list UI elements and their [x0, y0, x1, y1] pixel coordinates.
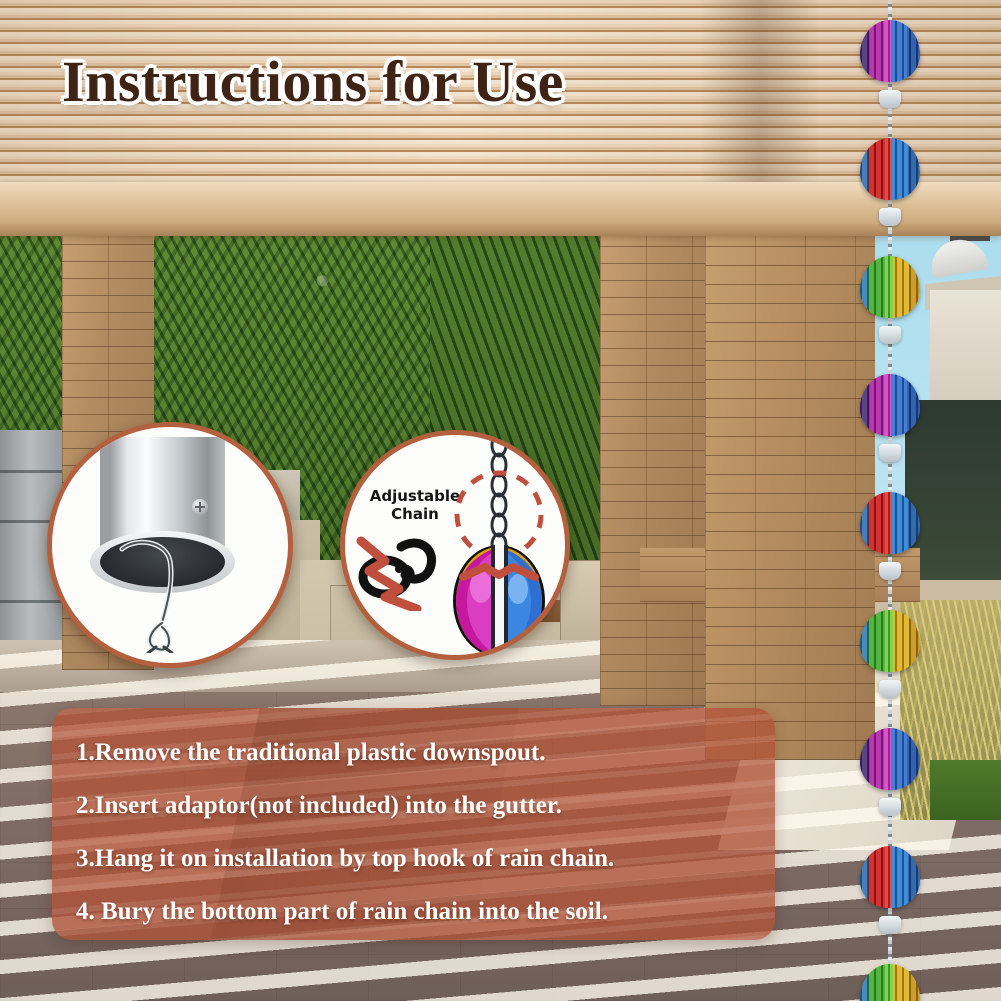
lawn-patch — [930, 760, 1001, 820]
instruction-step: 2.Insert adaptor(not included) into the … — [76, 779, 761, 832]
rain-chain-bead — [879, 680, 901, 698]
rain-chain-ornament — [860, 964, 920, 1001]
rain-chain-ornament — [860, 374, 920, 436]
rain-chain-bead — [879, 798, 901, 816]
rain-chain-bead — [879, 326, 901, 344]
rain-chain-bead — [879, 90, 901, 108]
rain-chain-ornament — [860, 138, 920, 200]
rain-chain-ornament — [860, 20, 920, 82]
screw-icon — [192, 499, 208, 515]
instructions-panel: 1.Remove the traditional plastic downspo… — [52, 708, 775, 940]
rain-chain-bead — [879, 562, 901, 580]
page-title: Instructions for Use — [62, 48, 564, 115]
stone-column-middle — [600, 236, 708, 706]
instruction-step: 1.Remove the traditional plastic downspo… — [76, 726, 761, 779]
pergola-beam-edge — [0, 224, 1001, 236]
rain-chain-ornament — [860, 256, 920, 318]
rain-chain-bead — [879, 208, 901, 226]
rain-chain-ornament-icon — [441, 430, 565, 660]
chain-link-icon — [355, 531, 447, 611]
product-instruction-image: Instructions for Use Adjustable Chain — [0, 0, 1001, 1001]
s-hook-icon — [114, 535, 214, 653]
far-house — [930, 290, 1001, 410]
rain-chain-ornament — [860, 728, 920, 790]
rain-chain-bead — [879, 916, 901, 934]
instruction-step: 3.Hang it on installation by top hook of… — [76, 832, 761, 885]
rain-chain-ornament — [860, 610, 920, 672]
inset-adjustable-chain: Adjustable Chain — [340, 430, 570, 660]
rain-chain-ornament — [860, 492, 920, 554]
rain-chain-bead — [879, 444, 901, 462]
instruction-step-list: 1.Remove the traditional plastic downspo… — [76, 726, 761, 938]
rain-chain-product — [855, 0, 925, 1001]
inset-gutter-adaptor — [47, 422, 293, 668]
rain-chain-ornament — [860, 846, 920, 908]
instruction-step: 4. Bury the bottom part of rain chain in… — [76, 885, 761, 938]
